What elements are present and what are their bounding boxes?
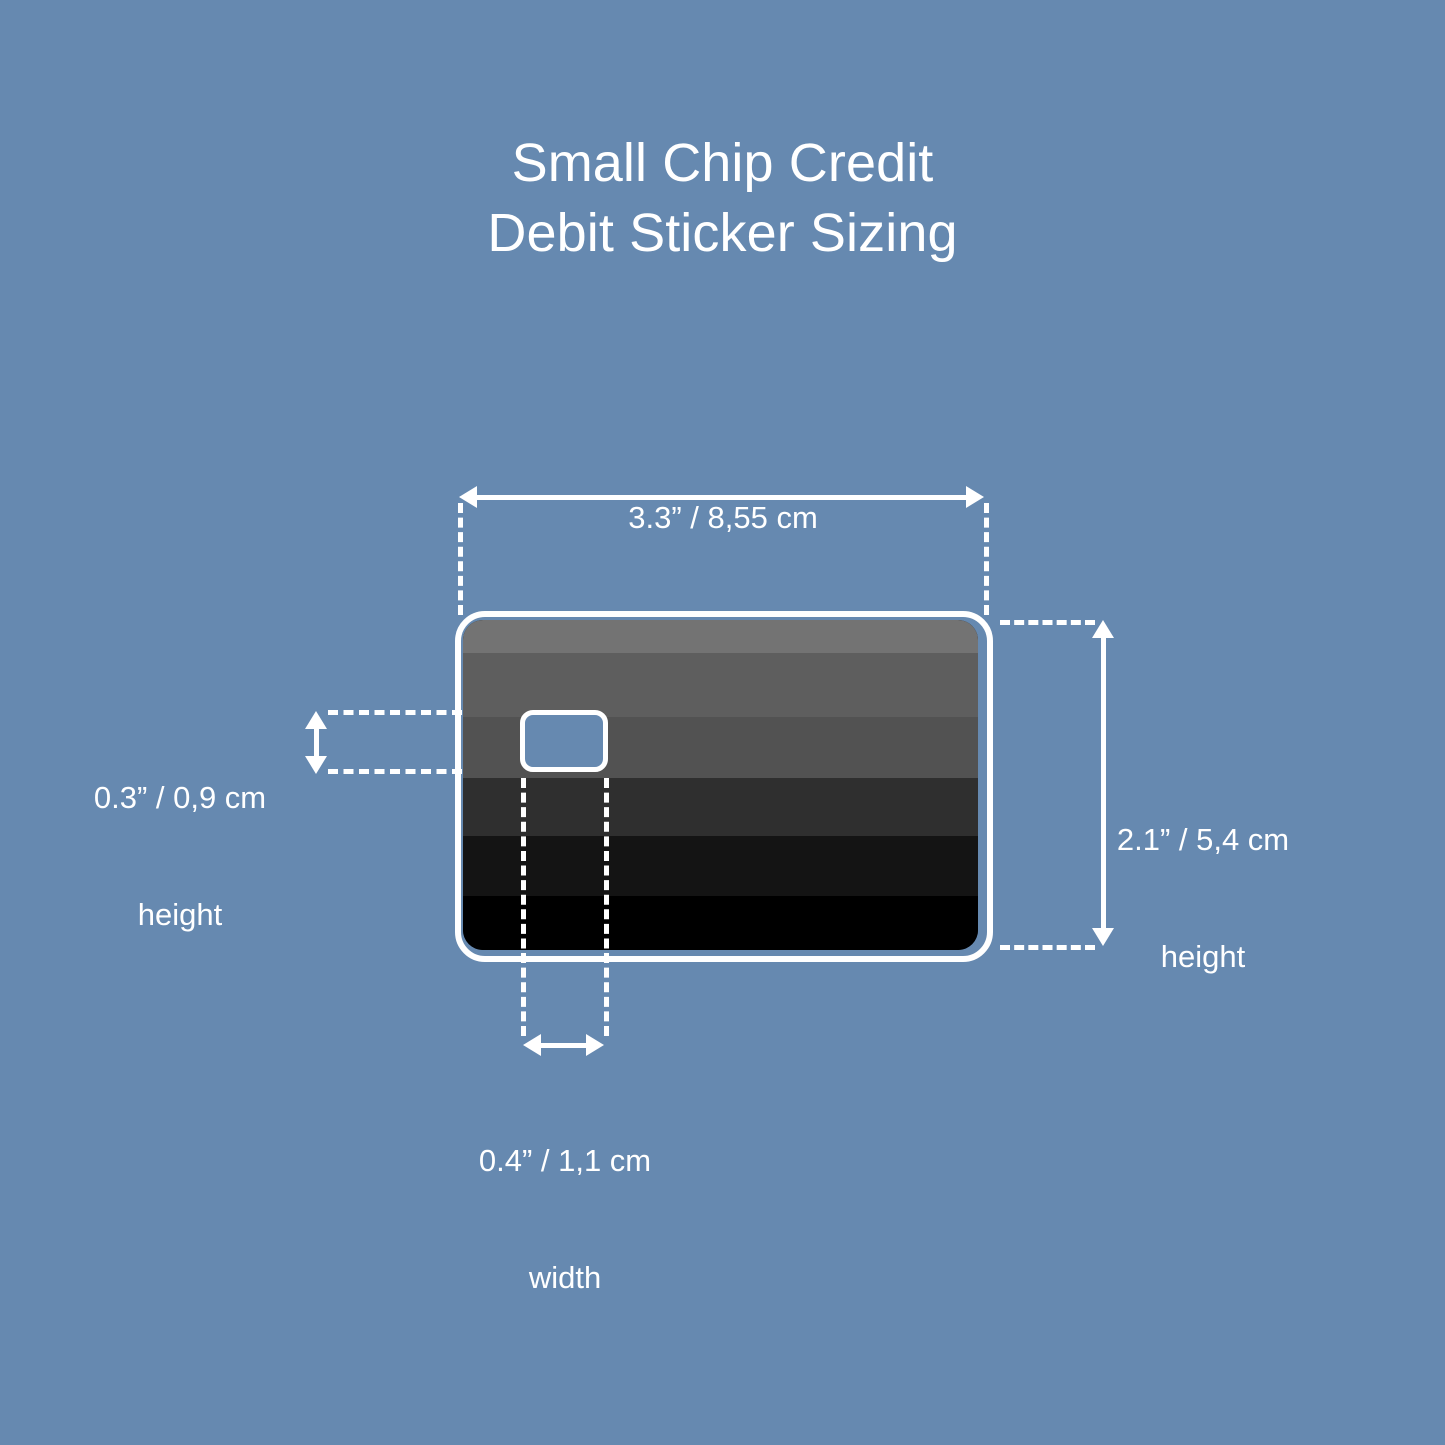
chip-height-label: 0.3” / 0,9 cm height <box>55 700 305 1012</box>
arrow-cap-right-icon <box>966 486 984 508</box>
title-line-1: Small Chip Credit <box>0 128 1445 198</box>
chip-width-measure: 0.4” / 1,1 cm <box>400 1141 730 1180</box>
sizing-diagram: Small Chip Credit Debit Sticker Sizing 3… <box>0 0 1445 1445</box>
card-height-extension-bottom <box>1000 945 1095 950</box>
title-line-2: Debit Sticker Sizing <box>0 198 1445 268</box>
arrow-cap-up-icon <box>1092 620 1114 638</box>
chip-height-arrow <box>314 728 319 757</box>
card-width-arrow <box>476 495 967 500</box>
card-height-axis: height <box>1028 937 1378 976</box>
arrow-cap-up-icon <box>305 711 327 729</box>
card-height-extension-top <box>1000 620 1095 625</box>
chip-height-axis: height <box>55 895 305 934</box>
card-band <box>463 836 978 895</box>
card-height-arrow <box>1101 637 1106 929</box>
card-width-measure: 3.3” / 8,55 cm <box>513 498 933 537</box>
chip-cutout <box>520 710 608 772</box>
chip-width-extension-left <box>521 778 526 1036</box>
card-width-extension-left <box>458 503 463 615</box>
arrow-cap-down-icon <box>1092 928 1114 946</box>
arrow-cap-left-icon <box>523 1034 541 1056</box>
card-band <box>463 778 978 836</box>
card-height-label: 2.1” / 5,4 cm height <box>1028 742 1378 1054</box>
card-height-measure: 2.1” / 5,4 cm <box>1028 820 1378 859</box>
arrow-cap-down-icon <box>305 756 327 774</box>
card-band <box>463 896 978 950</box>
card-band <box>463 653 978 717</box>
page-title: Small Chip Credit Debit Sticker Sizing <box>0 128 1445 268</box>
card-body <box>463 620 978 950</box>
card-width-extension-right <box>984 503 989 615</box>
chip-height-measure: 0.3” / 0,9 cm <box>55 778 305 817</box>
arrow-cap-right-icon <box>586 1034 604 1056</box>
chip-width-extension-right <box>604 778 609 1036</box>
card-band <box>463 620 978 653</box>
chip-width-axis: width <box>400 1258 730 1297</box>
chip-width-label: 0.4” / 1,1 cm width <box>400 1063 730 1375</box>
chip-width-arrow <box>540 1043 587 1048</box>
